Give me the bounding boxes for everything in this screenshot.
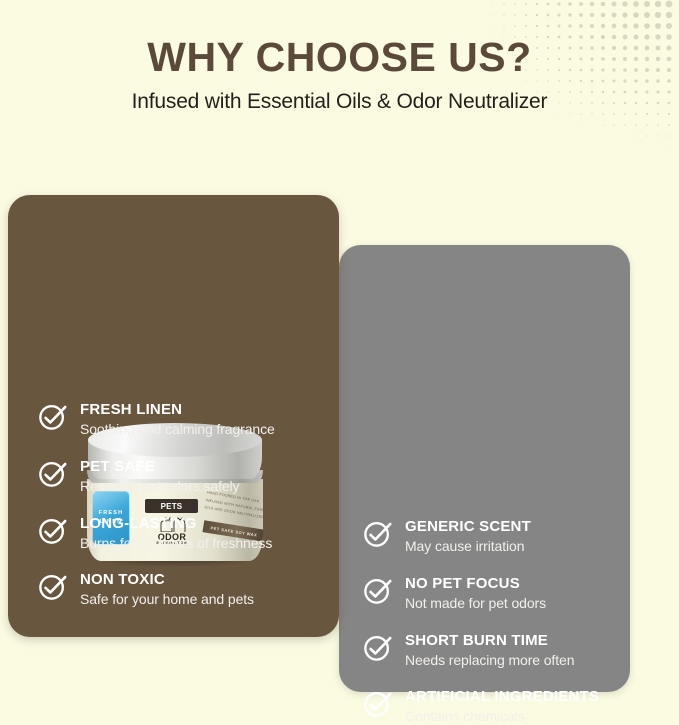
- list-item-title: SHORT BURN TIME: [405, 632, 548, 649]
- list-item-title: LONG-LASTING: [80, 515, 197, 532]
- product-panel: FRESH LINEN PETS ODOR ELIMINATOR HAND PO…: [8, 195, 339, 637]
- competitor-panel: GENERIC SCENT May cause irritation NO PE…: [339, 245, 630, 692]
- list-item-title: ARTIFICIAL INGREDIENTS: [405, 688, 599, 705]
- list-item-desc: Not made for pet odors: [405, 595, 546, 612]
- list-item-desc: Removes pet odors safely: [80, 478, 239, 495]
- list-item: SHORT BURN TIME Needs replacing more oft…: [363, 631, 630, 669]
- list-item-title: PET SAFE: [80, 458, 155, 475]
- check-circle-icon: [363, 519, 392, 548]
- product-feature-list: FRESH LINEN Soothing and calming fragran…: [8, 400, 339, 608]
- list-item-title: FRESH LINEN: [80, 401, 182, 418]
- page-subtitle: Infused with Essential Oils & Odor Neutr…: [0, 90, 679, 114]
- list-item: GENERIC SCENT May cause irritation: [363, 517, 630, 555]
- check-circle-icon: [363, 689, 392, 718]
- check-circle-icon: [38, 516, 67, 545]
- check-circle-icon: [363, 576, 392, 605]
- list-item: FRESH LINEN Soothing and calming fragran…: [38, 400, 339, 438]
- list-item-title: NON TOXIC: [80, 571, 165, 588]
- list-item-desc: Safe for your home and pets: [80, 591, 254, 608]
- page-title: WHY CHOOSE US?: [0, 36, 679, 79]
- check-circle-icon: [38, 459, 67, 488]
- list-item-desc: Burns for 72 hours of freshness: [80, 535, 272, 552]
- competitor-feature-list: GENERIC SCENT May cause irritation NO PE…: [339, 517, 630, 725]
- list-item-title: GENERIC SCENT: [405, 518, 531, 535]
- list-item: ARTIFICIAL INGREDIENTS Contains chemical…: [363, 687, 630, 725]
- check-circle-icon: [363, 633, 392, 662]
- list-item: PET SAFE Removes pet odors safely: [38, 457, 339, 495]
- check-circle-icon: [38, 572, 67, 601]
- list-item: LONG-LASTING Burns for 72 hours of fresh…: [38, 514, 339, 552]
- list-item-desc: Soothing and calming fragrance: [80, 421, 275, 438]
- list-item: NO PET FOCUS Not made for pet odors: [363, 574, 630, 612]
- list-item-desc: May cause irritation: [405, 538, 531, 555]
- check-circle-icon: [38, 402, 67, 431]
- list-item: NON TOXIC Safe for your home and pets: [38, 570, 339, 608]
- list-item-title: NO PET FOCUS: [405, 575, 520, 592]
- list-item-desc: Contains chemicals: [405, 708, 599, 725]
- list-item-desc: Needs replacing more often: [405, 652, 574, 669]
- header: WHY CHOOSE US? Infused with Essential Oi…: [0, 0, 679, 150]
